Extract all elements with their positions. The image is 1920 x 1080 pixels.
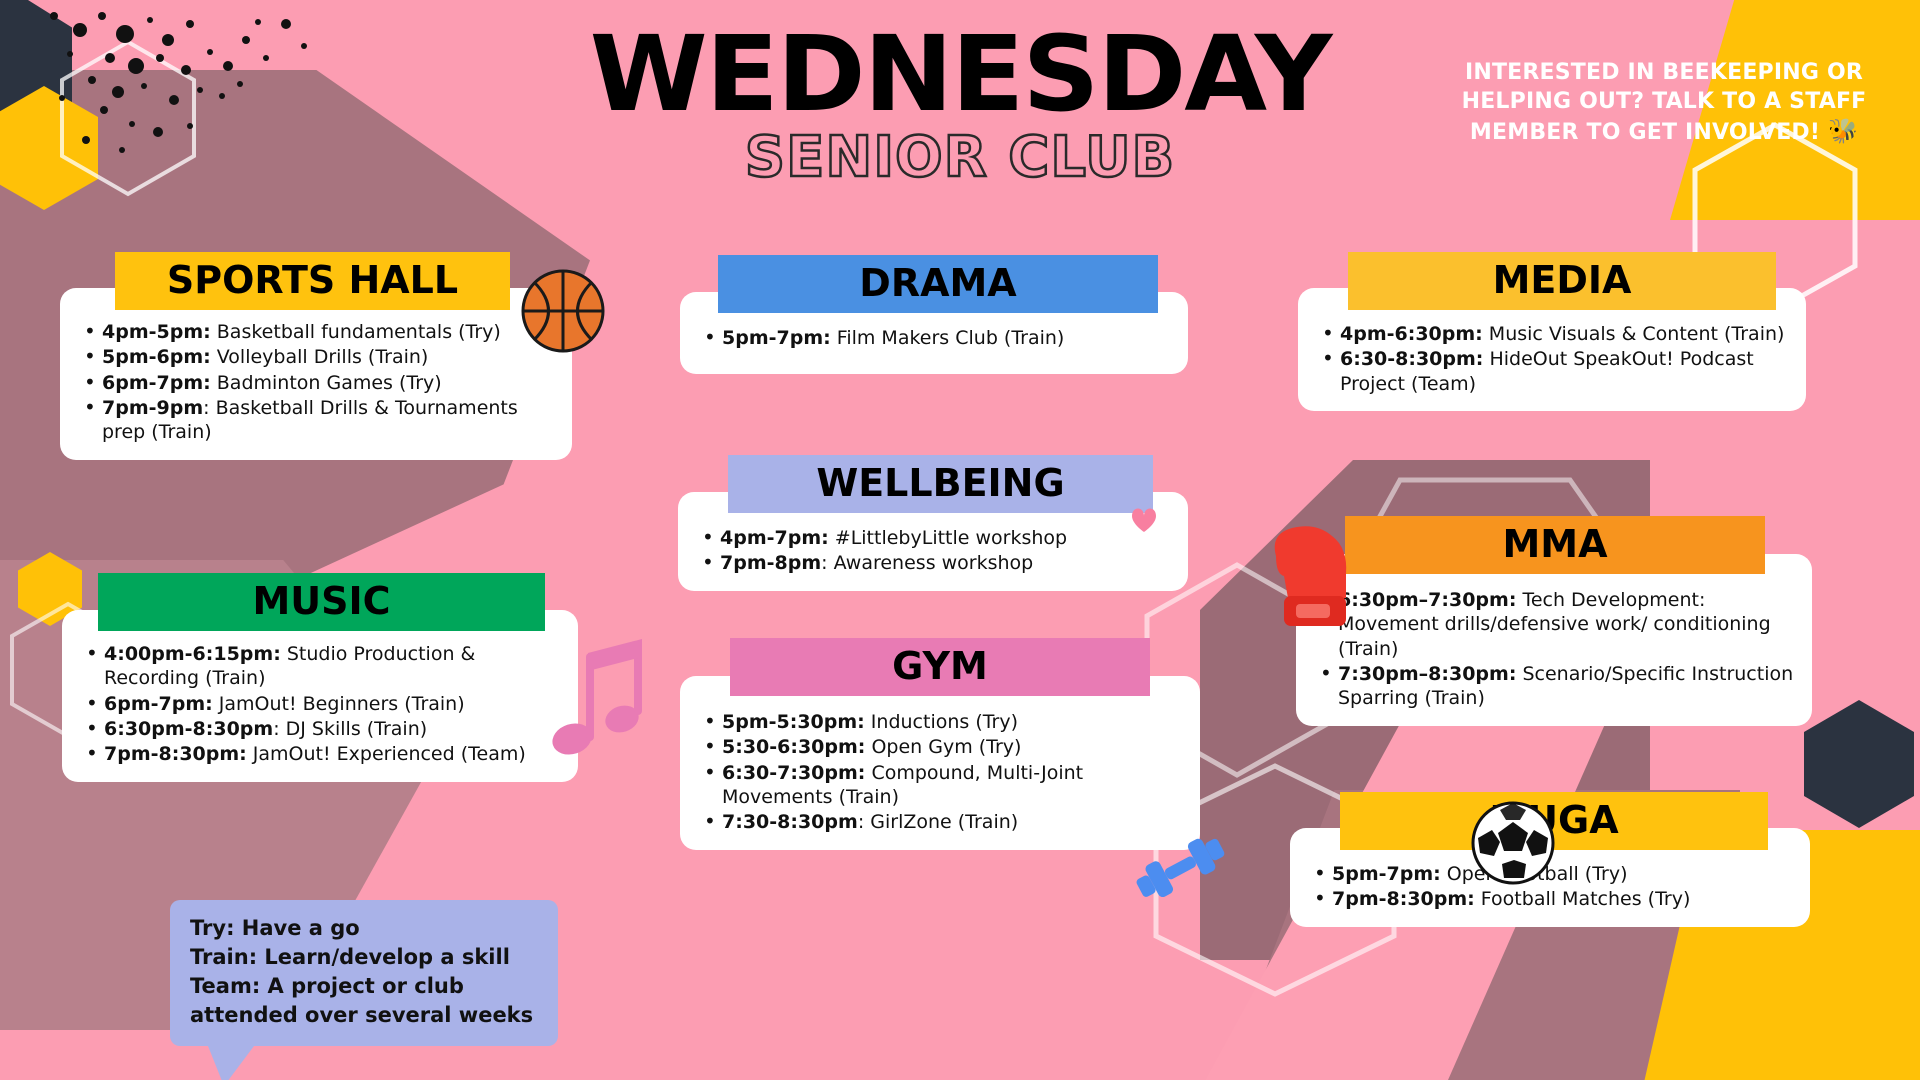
list-item: 6pm-7pm: JamOut! Beginners (Train): [82, 692, 560, 716]
list-item: 7pm-9pm: Basketball Drills & Tournaments…: [80, 396, 554, 445]
legend-line: Train: Learn/develop a skill: [190, 943, 540, 972]
list-item: 4pm-6:30pm: Music Visuals & Content (Tra…: [1318, 322, 1788, 346]
poster-canvas: WEDNESDAY SENIOR CLUB INTERESTED IN BEEK…: [0, 0, 1920, 1080]
list-item: 7:30-8:30pm: GirlZone (Train): [700, 810, 1182, 834]
list-item: 5:30-6:30pm: Open Gym (Try): [700, 735, 1182, 759]
list-item: 4pm-5pm: Basketball fundamentals (Try): [80, 320, 554, 344]
list-item: 7pm-8pm: Awareness workshop: [698, 551, 1170, 575]
list-item: 5pm-5:30pm: Inductions (Try): [700, 710, 1182, 734]
legend-key-box: Try: Have a go Train: Learn/develop a sk…: [170, 900, 558, 1046]
card-title-media: MEDIA: [1348, 252, 1776, 310]
legend-speech-tail: [208, 1046, 254, 1080]
list-item: 5pm-7pm: Open Football (Try): [1310, 862, 1792, 886]
list-item: 7pm-8:30pm: JamOut! Experienced (Team): [82, 742, 560, 766]
card-title-drama: DRAMA: [718, 255, 1158, 313]
legend-line: Try: Have a go: [190, 914, 540, 943]
list-item: 5pm-7pm: Film Makers Club (Train): [700, 326, 1170, 350]
card-title-muga: MUGA: [1340, 792, 1768, 850]
list-item: 7:30pm–8:30pm: Scenario/Specific Instruc…: [1316, 662, 1794, 711]
list-item: 6:30-8:30pm: HideOut SpeakOut! Podcast P…: [1318, 347, 1788, 396]
list-item: 4pm-7pm: #LittlebyLittle workshop: [698, 526, 1170, 550]
list-item: 6pm-7pm: Badminton Games (Try): [80, 371, 554, 395]
card-list-gym: 5pm-5:30pm: Inductions (Try) 5:30-6:30pm…: [680, 676, 1200, 850]
announcement-text: INTERESTED IN BEEKEEPING OR HELPING OUT?…: [1462, 60, 1867, 145]
list-item: 5pm-6pm: Volleyball Drills (Train): [80, 345, 554, 369]
list-item: 7pm-8:30pm: Football Matches (Try): [1310, 887, 1792, 911]
legend-line: attended over several weeks: [190, 1001, 540, 1030]
card-title-sports-hall: SPORTS HALL: [115, 252, 510, 310]
list-item: 4:00pm-6:15pm: Studio Production & Recor…: [82, 642, 560, 691]
hexagon-dark-right: [1804, 700, 1914, 828]
card-title-music: MUSIC: [98, 573, 545, 631]
card-list-mma: 6:30pm–7:30pm: Tech Development: Movemen…: [1296, 554, 1812, 726]
bee-icon: 🐝: [1828, 117, 1858, 145]
list-item: 6:30pm-8:30pm: DJ Skills (Train): [82, 717, 560, 741]
list-item: 6:30pm–7:30pm: Tech Development: Movemen…: [1316, 588, 1794, 661]
legend-line: Team: A project or club: [190, 972, 540, 1001]
card-title-gym: GYM: [730, 638, 1150, 696]
list-item: 6:30-7:30pm: Compound, Multi-Joint Movem…: [700, 761, 1182, 810]
card-title-mma: MMA: [1345, 516, 1765, 574]
card-list-music: 4:00pm-6:15pm: Studio Production & Recor…: [62, 610, 578, 782]
card-title-wellbeing: WELLBEING: [728, 455, 1153, 513]
announcement-banner: INTERESTED IN BEEKEEPING OR HELPING OUT?…: [1438, 58, 1890, 148]
card-list-sports-hall: 4pm-5pm: Basketball fundamentals (Try) 5…: [60, 288, 572, 460]
